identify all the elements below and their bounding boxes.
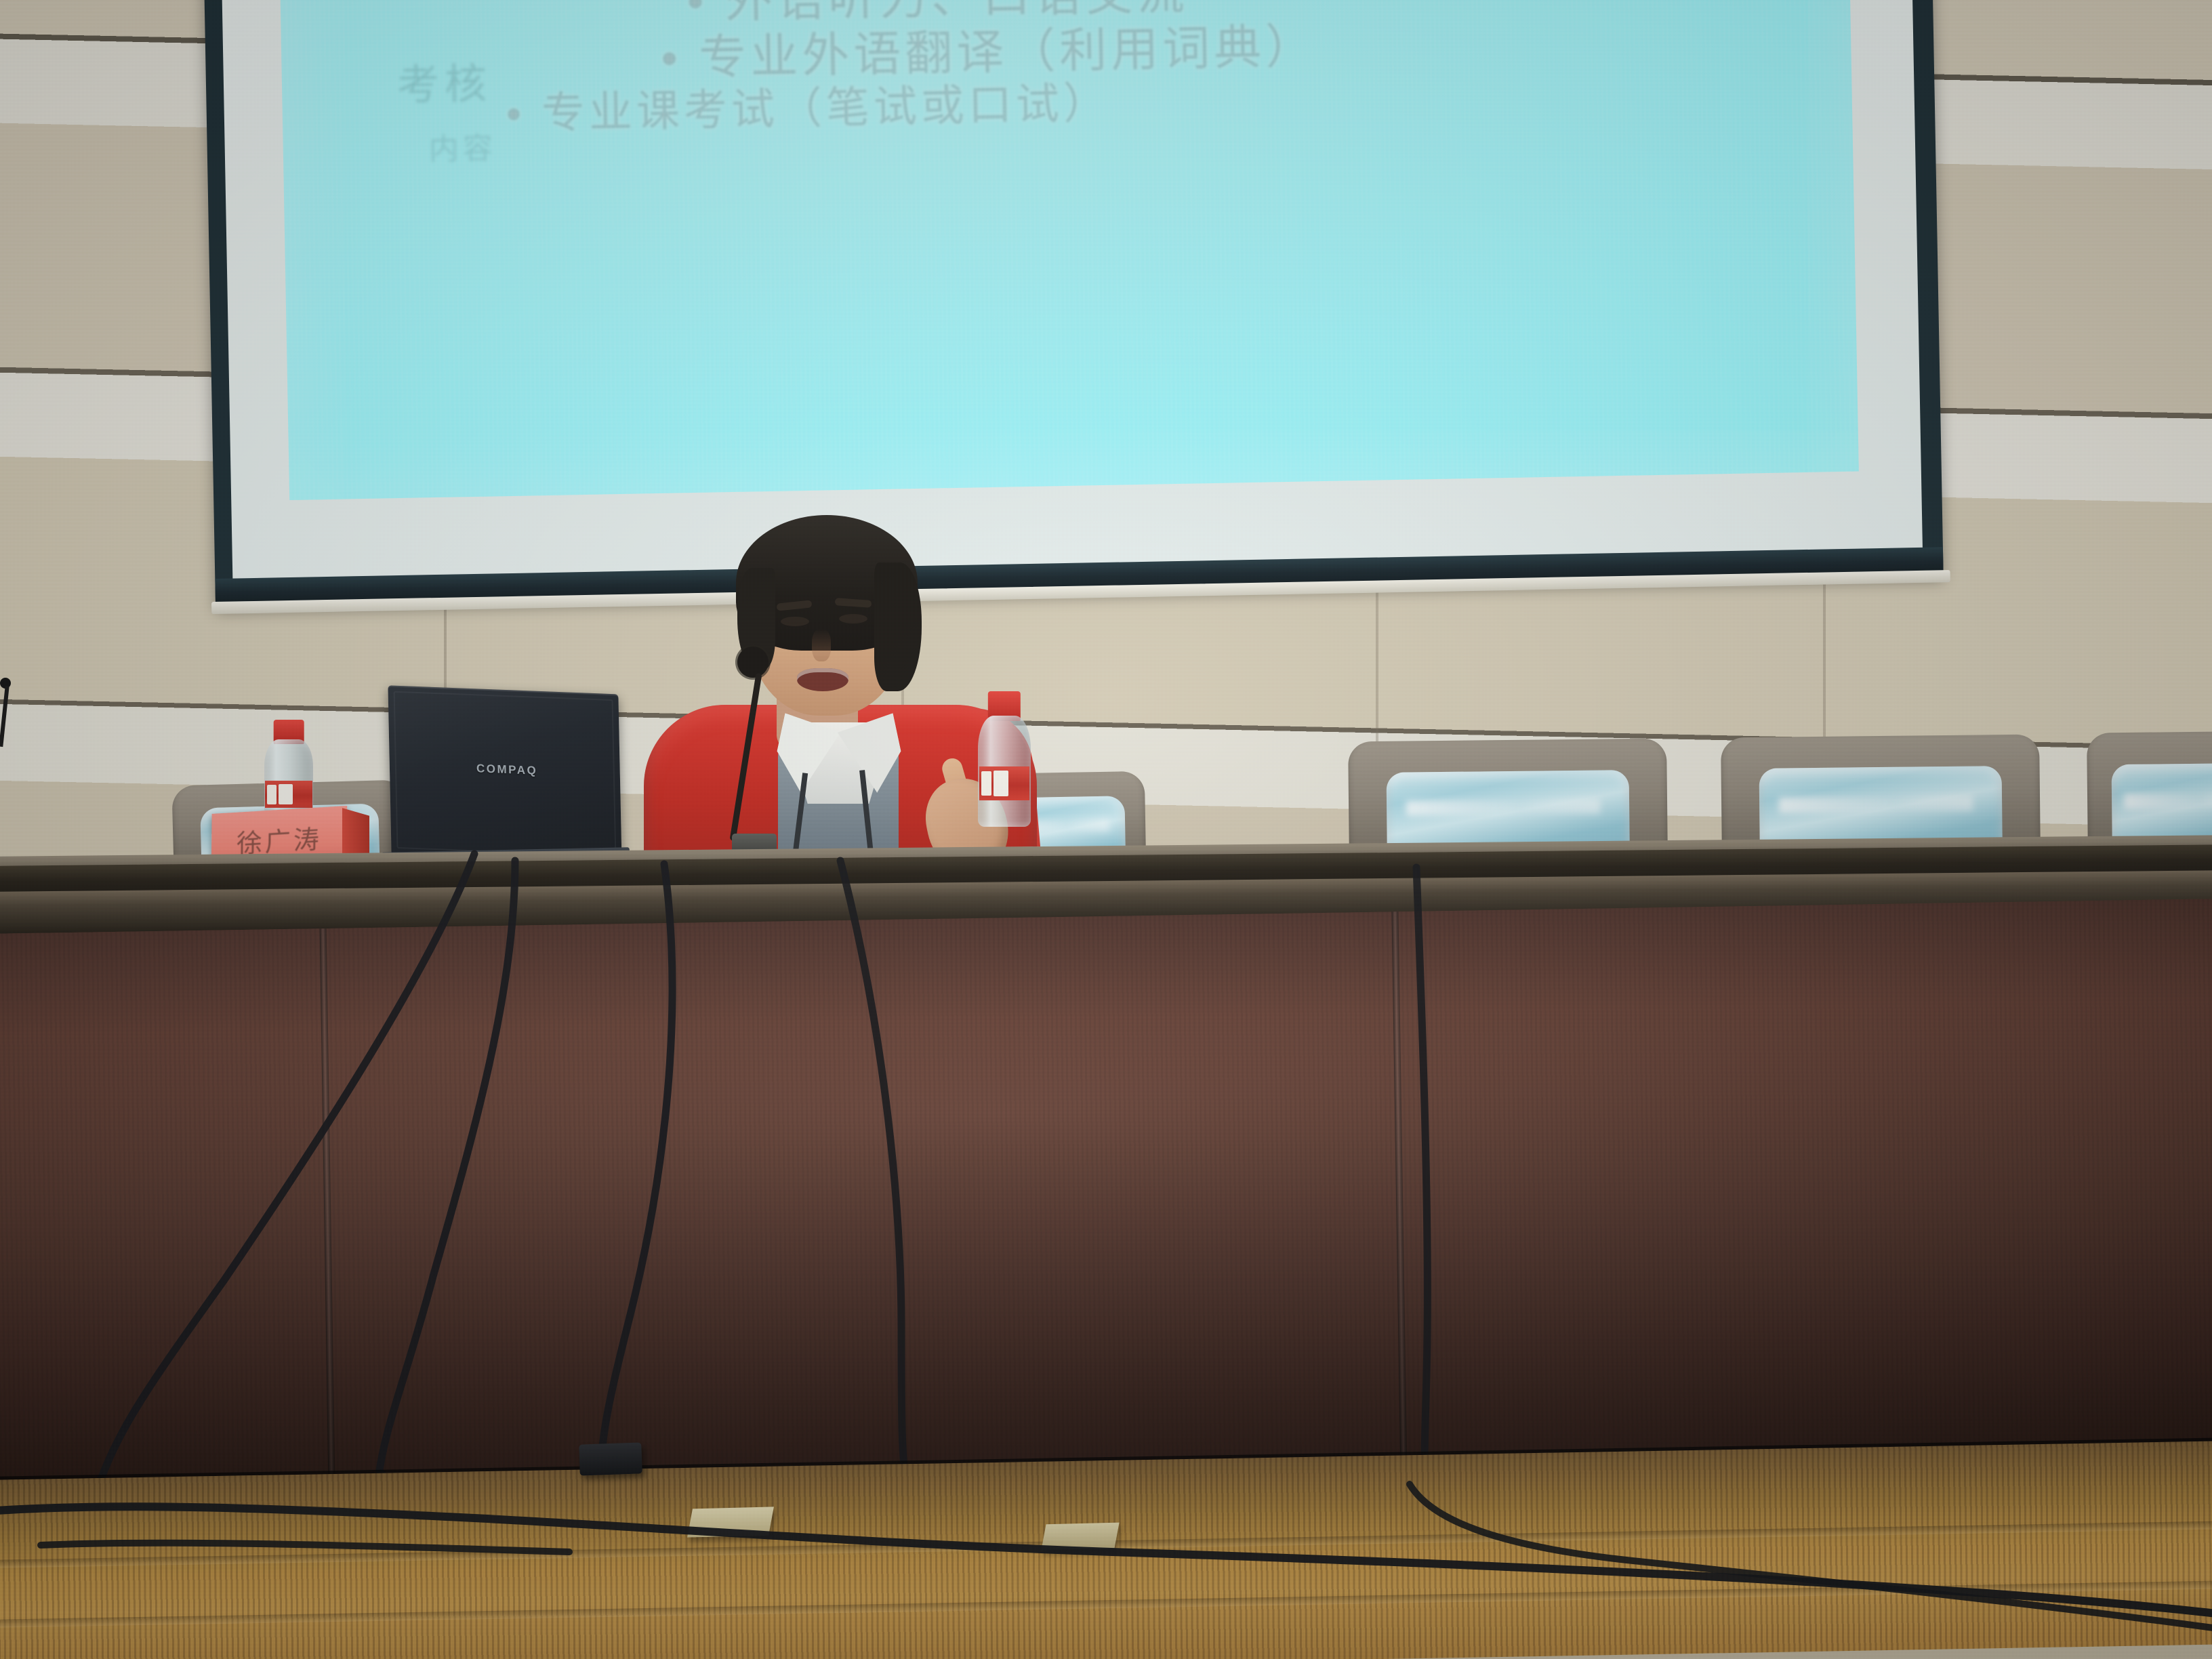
eye-right — [839, 614, 867, 623]
water-bottle-right — [978, 691, 1031, 827]
bottle-label — [265, 781, 312, 808]
microphone-head-icon — [737, 647, 769, 678]
photo-scene: • 外语听力、口语交流 • 专业外语翻译（利用词典） • 专业课考试（笔试或口试… — [0, 0, 2212, 1659]
slide-line-2: • 专业外语翻译（利用词典） — [281, 8, 1851, 93]
seated-presenter — [651, 515, 1030, 895]
bottle-label — [979, 766, 1030, 800]
slide-line-3: • 专业课考试（笔试或口试） — [282, 64, 1852, 144]
eye-left — [781, 617, 809, 626]
mouth — [797, 668, 848, 691]
floor-cables — [0, 1443, 2212, 1659]
slide-line-1: • 外语听力、口语交流 — [280, 0, 1850, 37]
slide-left-label: 考核 — [396, 49, 493, 112]
cable-floor-clamp — [579, 1442, 642, 1475]
slide-left-sublabel: 内容 — [428, 123, 497, 168]
screen-surface: • 外语听力、口语交流 • 专业外语翻译（利用词典） • 专业课考试（笔试或口试… — [222, 0, 1923, 580]
projection-screen: • 外语听力、口语交流 • 专业外语翻译（利用词典） • 专业课考试（笔试或口试… — [204, 0, 1944, 603]
presenter-laptop[interactable]: COMPAQ — [390, 690, 620, 859]
nose — [812, 629, 831, 661]
projected-slide: • 外语听力、口语交流 • 专业外语翻译（利用词典） • 专业课考试（笔试或口试… — [280, 0, 1859, 500]
bottle-body — [978, 716, 1031, 827]
laptop-brand-logo: COMPAQ — [476, 762, 538, 777]
slide-text-block: • 外语听力、口语交流 • 专业外语翻译（利用词典） • 专业课考试（笔试或口试… — [280, 0, 1852, 144]
hair-side-right — [874, 562, 922, 691]
